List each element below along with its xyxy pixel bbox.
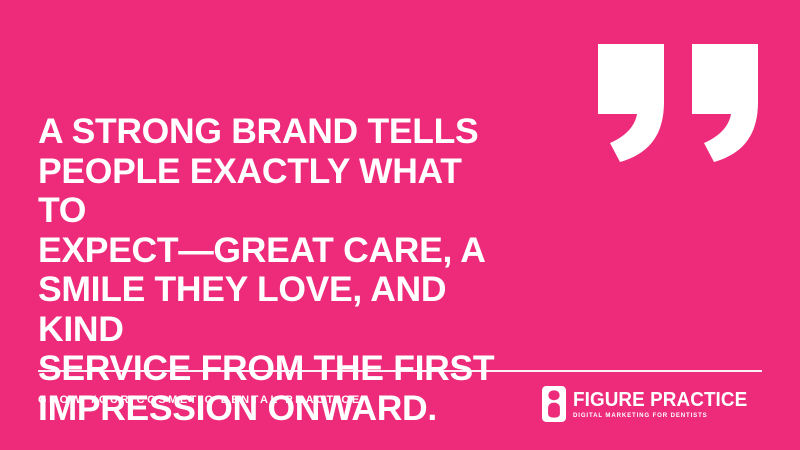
footer-divider [38, 370, 762, 372]
logo-wordmark: FIGURE PRACTICE DIGITAL MARKETING FOR DE… [573, 389, 762, 419]
logo-name: FIGURE PRACTICE [573, 389, 747, 410]
quote-card: A STRONG BRAND TELLS PEOPLE EXACTLY WHAT… [0, 0, 800, 450]
logo-subtitle: DIGITAL MARKETING FOR DENTISTS [573, 412, 753, 419]
brand-logo: FIGURE PRACTICE DIGITAL MARKETING FOR DE… [542, 384, 762, 424]
closing-double-quote-icon [598, 44, 762, 162]
footer: GROW YOUR COSMETIC DENTAL PRACTICE FIGUR… [38, 386, 762, 430]
footer-tagline: GROW YOUR COSMETIC DENTAL PRACTICE [38, 394, 362, 406]
quote-block: A STRONG BRAND TELLS PEOPLE EXACTLY WHAT… [38, 112, 508, 428]
figure-practice-tooth-mark-icon [542, 386, 566, 422]
quote-text: A STRONG BRAND TELLS PEOPLE EXACTLY WHAT… [38, 112, 508, 428]
